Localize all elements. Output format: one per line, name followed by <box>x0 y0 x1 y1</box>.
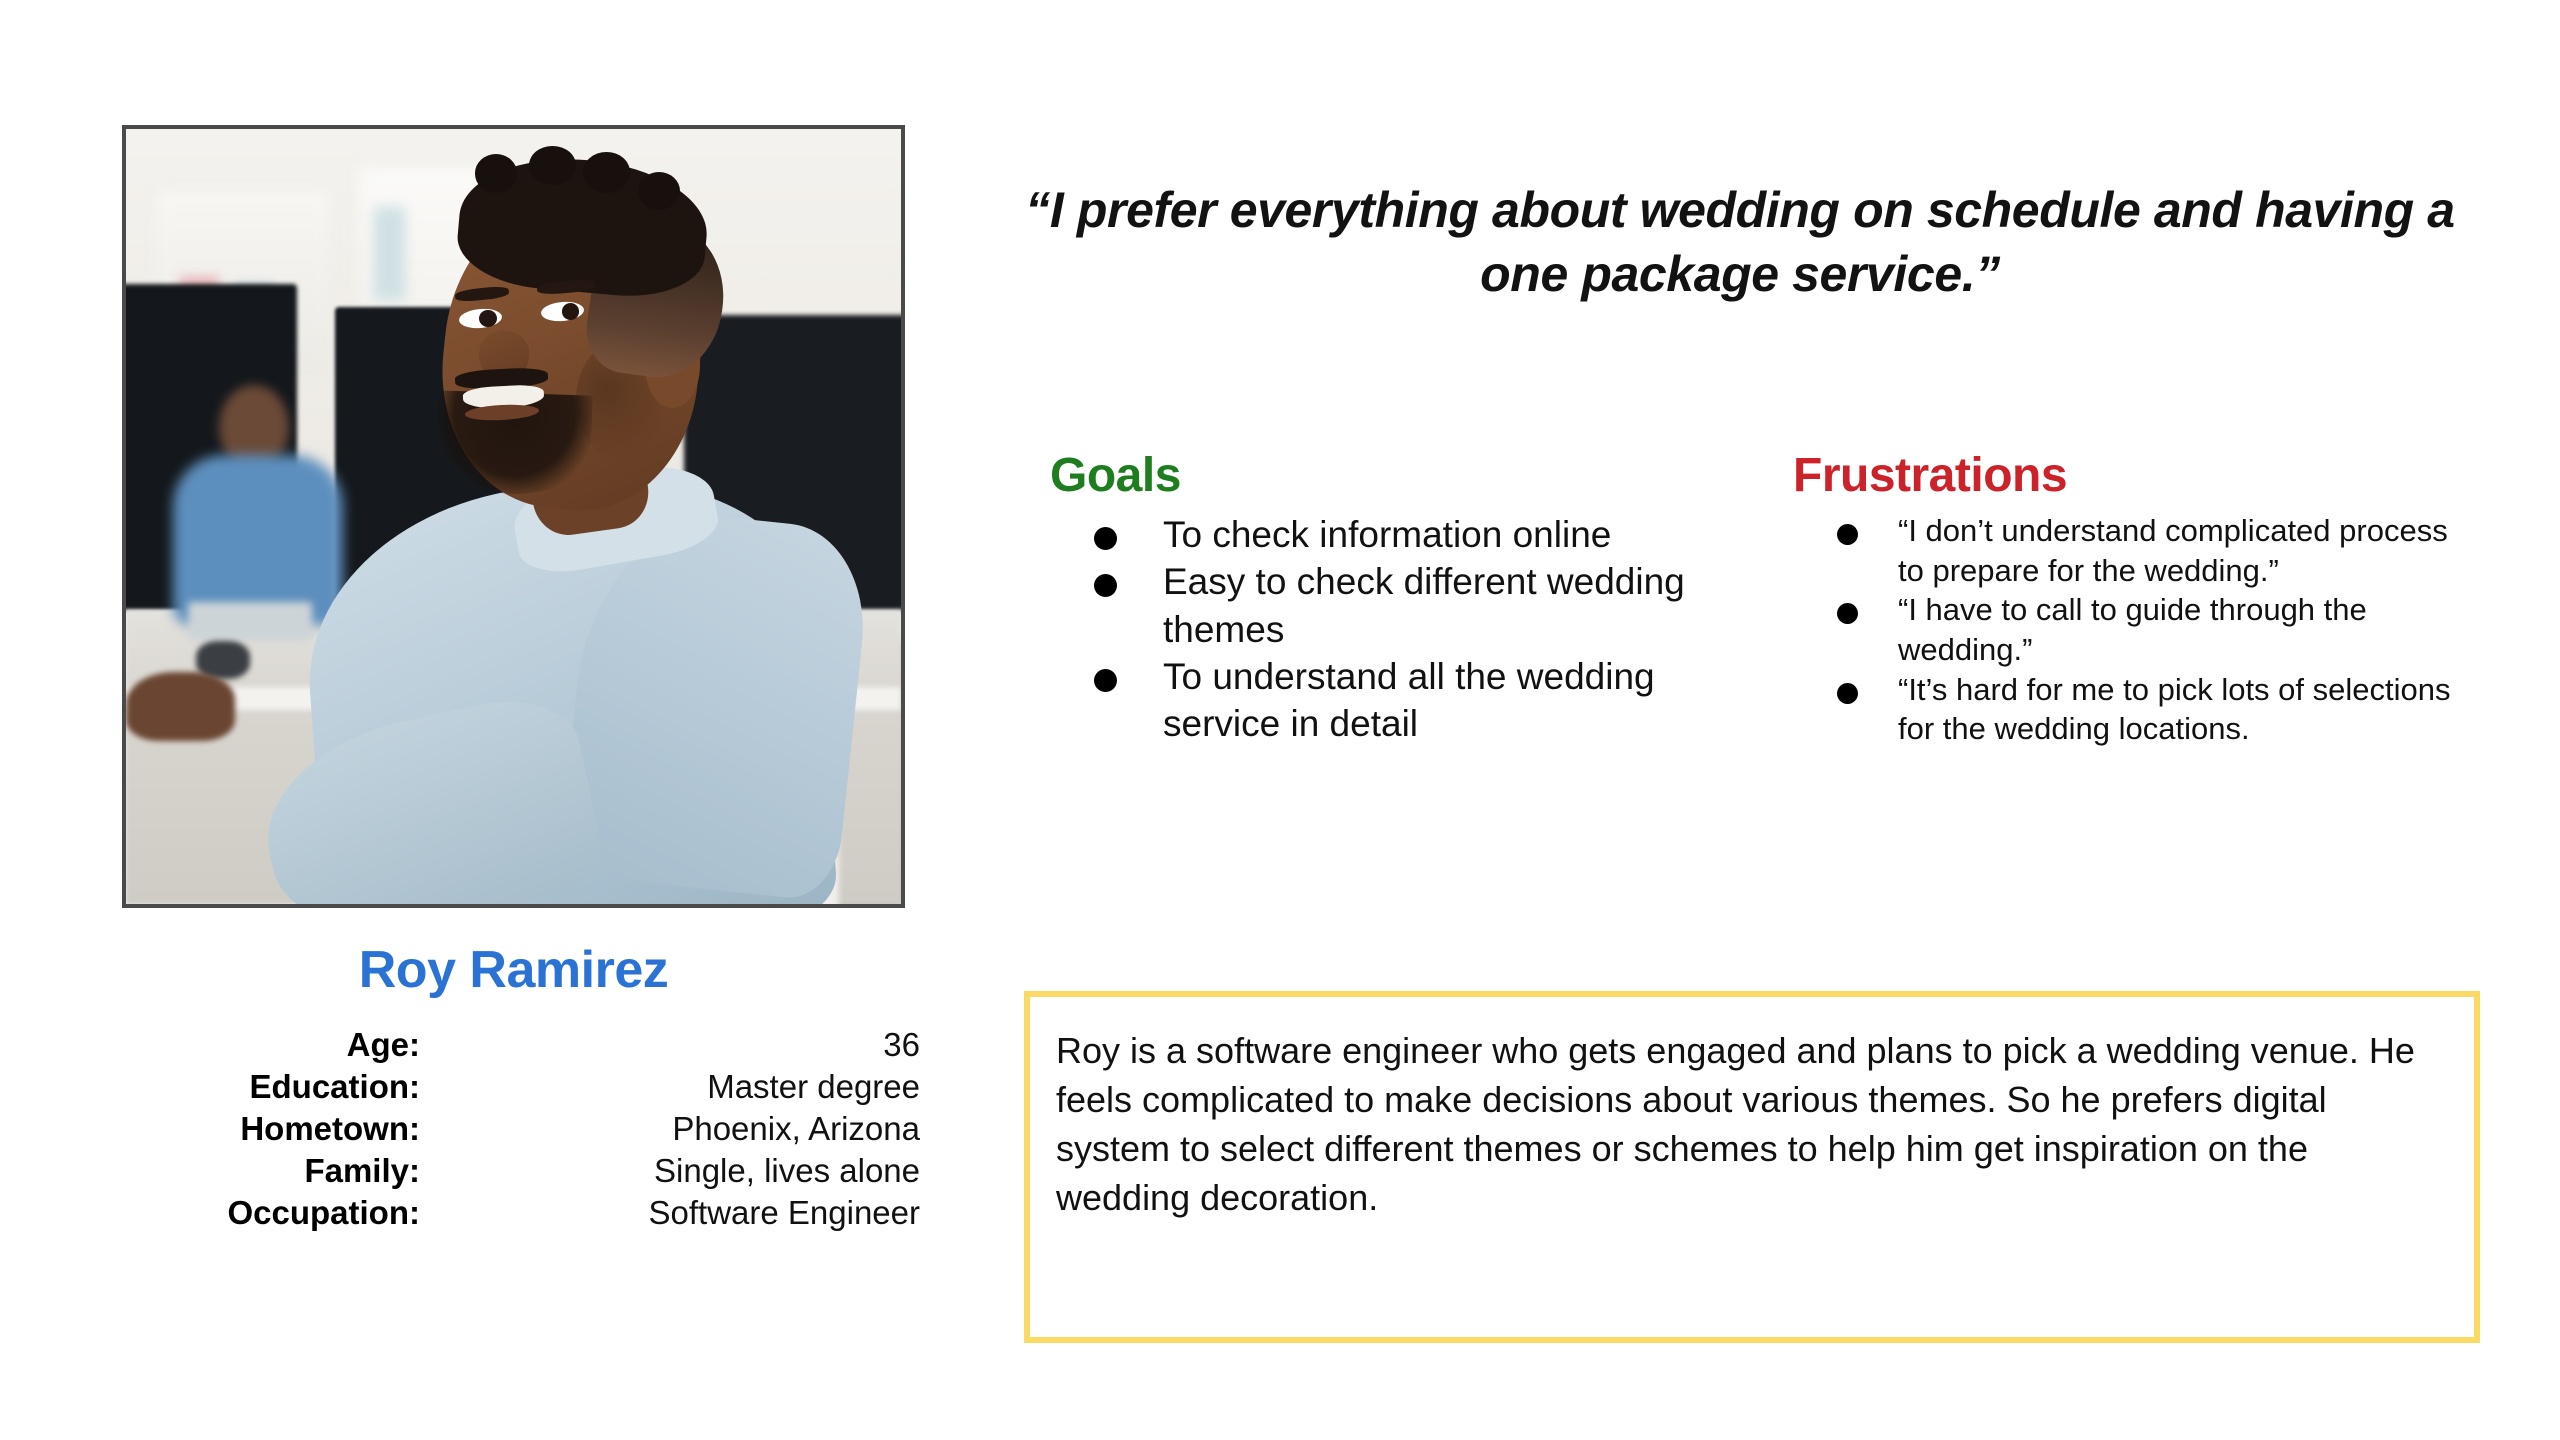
subject-pupil-right <box>562 303 580 320</box>
goals-heading: Goals <box>1050 448 1750 503</box>
goals-list: To check information online Easy to chec… <box>1050 511 1750 748</box>
list-item: “It’s hard for me to pick lots of select… <box>1793 670 2453 749</box>
frustration-text: “It’s hard for me to pick lots of select… <box>1898 670 2453 749</box>
bullet-dot-icon <box>1094 669 1117 692</box>
table-row: Age: 36 <box>60 1026 922 1068</box>
persona-attributes-table: Age: 36 Education: Master degree Hometow… <box>60 1026 922 1236</box>
attribute-value: Phoenix, Arizona <box>420 1110 922 1148</box>
table-row: Family: Single, lives alone <box>60 1152 922 1194</box>
subject-hair-twist <box>529 146 576 185</box>
list-item: Easy to check different wedding themes <box>1050 558 1750 653</box>
subject-hair-twist <box>583 152 630 192</box>
persona-bio-text: Roy is a software engineer who gets enga… <box>1030 997 2474 1223</box>
bullet-dot-icon <box>1094 574 1117 597</box>
frustrations-list: “I don’t understand complicated process … <box>1793 511 2453 749</box>
list-item: “I don’t understand complicated process … <box>1793 511 2453 590</box>
photo-office-scene <box>126 129 901 904</box>
frustrations-heading: Frustrations <box>1793 448 2453 503</box>
list-item: To check information online <box>1050 511 1750 558</box>
list-item: To understand all the wedding service in… <box>1050 653 1750 748</box>
attribute-value: Master degree <box>420 1068 922 1106</box>
bullet-dot-icon <box>1837 603 1858 624</box>
persona-bio-box: Roy is a software engineer who gets enga… <box>1024 991 2480 1343</box>
subject-sleeve <box>248 686 608 904</box>
attribute-label: Age: <box>60 1026 420 1064</box>
persona-name: Roy Ramirez <box>122 940 905 1000</box>
attribute-label: Education: <box>60 1068 420 1106</box>
goals-section: Goals To check information online Easy t… <box>1050 448 1750 748</box>
persona-photo <box>122 125 905 908</box>
list-item: “I have to call to guide through the wed… <box>1793 590 2453 669</box>
attribute-label: Family: <box>60 1152 420 1190</box>
bullet-dot-icon <box>1837 683 1858 704</box>
goal-text: To check information online <box>1163 511 1611 558</box>
attribute-value: Software Engineer <box>420 1194 922 1232</box>
subject-pupil-left <box>479 310 497 327</box>
table-row: Occupation: Software Engineer <box>60 1194 922 1236</box>
persona-subject <box>126 129 901 904</box>
table-row: Hometown: Phoenix, Arizona <box>60 1110 922 1152</box>
subject-hair-twist <box>638 172 681 211</box>
frustration-text: “I have to call to guide through the wed… <box>1898 590 2453 669</box>
bullet-dot-icon <box>1837 524 1858 545</box>
frustrations-section: Frustrations “I don’t understand complic… <box>1793 448 2453 749</box>
attribute-value: Single, lives alone <box>420 1152 922 1190</box>
goal-text: To understand all the wedding service in… <box>1163 653 1750 748</box>
persona-quote: “I prefer everything about wedding on sc… <box>1020 178 2460 306</box>
subject-hair-twist <box>475 154 518 193</box>
frustration-text: “I don’t understand complicated process … <box>1898 511 2453 590</box>
bullet-dot-icon <box>1094 527 1117 550</box>
table-row: Education: Master degree <box>60 1068 922 1110</box>
attribute-value: 36 <box>420 1026 922 1064</box>
attribute-label: Occupation: <box>60 1194 420 1232</box>
goal-text: Easy to check different wedding themes <box>1163 558 1750 653</box>
attribute-label: Hometown: <box>60 1110 420 1148</box>
